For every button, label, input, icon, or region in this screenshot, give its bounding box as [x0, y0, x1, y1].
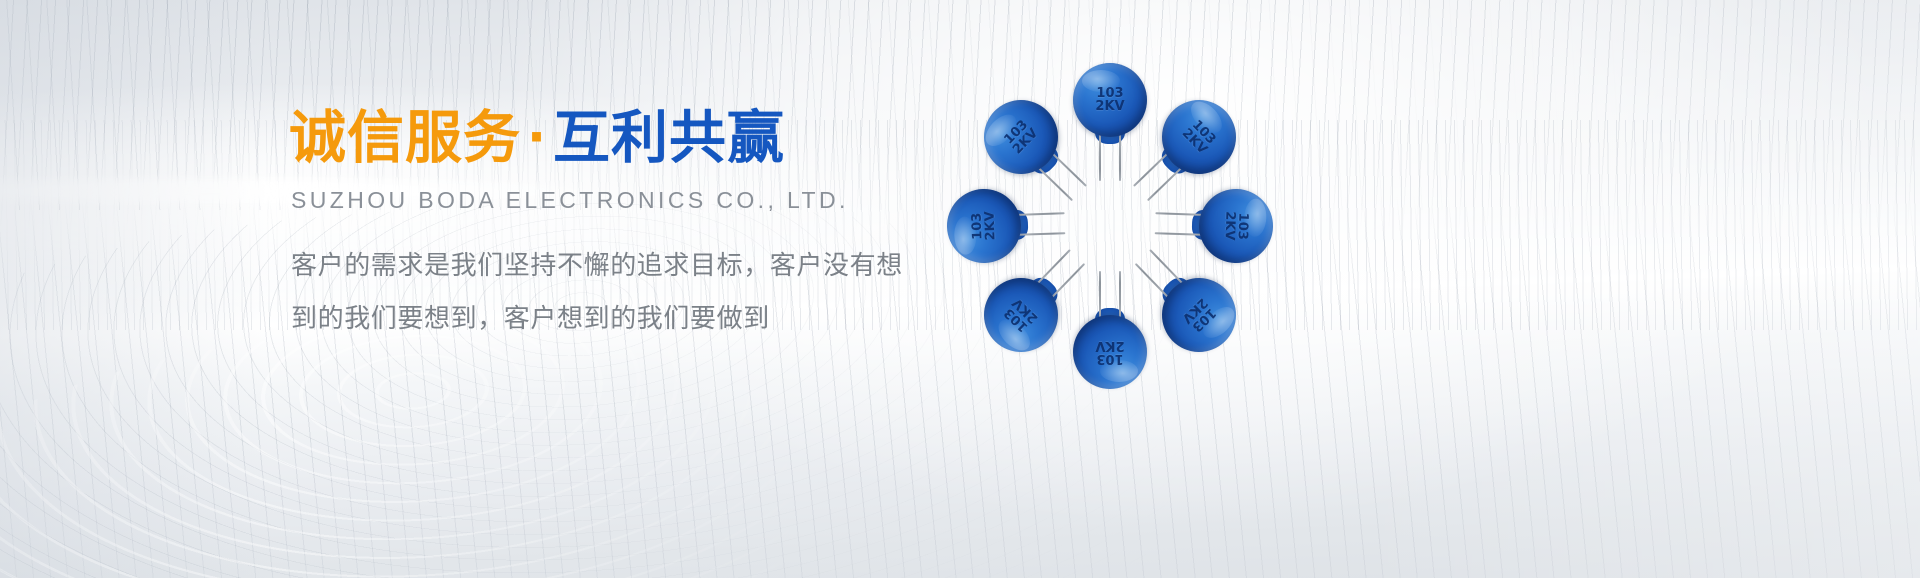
banner-copy-block: 诚信服务·互利共赢 SUZHOU BODA ELECTRONICS CO., L… [289, 108, 969, 353]
capacitor-lead-right [1155, 232, 1203, 236]
capacitor-lead-left [1037, 166, 1073, 201]
capacitor-lead-right [1099, 271, 1101, 319]
capacitor-marking-line-2: 2KV [983, 211, 997, 241]
capacitor-1: 1032KV [1073, 63, 1147, 137]
capacitor-part-marking: 1032KV [1147, 85, 1252, 190]
capacitor-part-marking: 1032KV [969, 85, 1074, 190]
promo-banner: 诚信服务·互利共赢 SUZHOU BODA ELECTRONICS CO., L… [0, 0, 1920, 578]
slogan-line-2: 到的我们要想到，客户想到的我们要做到 [291, 300, 969, 339]
capacitor-part-marking: 1032KV [969, 263, 1074, 368]
capacitor-part-marking: 1032KV [946, 188, 1023, 265]
capacitor-lead-left [1050, 263, 1085, 299]
capacitor-3: 1032KV [1198, 188, 1275, 265]
capacitor-marking-line-2: 2KV [1095, 100, 1124, 113]
headline-segment-blue: 互利共赢 [553, 105, 785, 171]
capacitor-lead-left [1149, 249, 1184, 285]
headline-segment-orange: 诚信服务 [289, 105, 521, 171]
capacitor-ring-graphic: 1032KV1032KV1032KV1032KV1032KV1032KV1032… [900, 30, 1340, 430]
capacitor-lead-right [1147, 166, 1183, 201]
capacitor-lead-left [1119, 271, 1121, 319]
capacitor-part-marking: 1032KV [1073, 63, 1147, 137]
capacitor-part-marking: 1032KV [1198, 188, 1275, 265]
company-name-english: SUZHOU BODA ELECTRONICS CO., LTD. [291, 187, 969, 214]
capacitor-lead-right [1051, 152, 1087, 187]
capacitor-7: 1032KV [946, 188, 1023, 265]
capacitor-marking-line-1: 103 [1236, 212, 1250, 240]
capacitor-part-marking: 1032KV [1147, 263, 1252, 368]
capacitor-lead-left [1155, 212, 1203, 216]
capacitor-part-marking: 1032KV [1073, 315, 1147, 389]
banner-headline: 诚信服务·互利共赢 [289, 108, 969, 170]
capacitor-lead-right [1036, 249, 1071, 285]
banner-slogan-paragraph: 客户的需求是我们坚持不懈的追求目标，客户没有想 到的我们要想到，客户想到的我们要… [291, 247, 969, 339]
headline-separator-dot: · [521, 108, 553, 166]
capacitor-5: 1032KV [1073, 315, 1147, 389]
capacitor-6: 1032KV [969, 263, 1074, 368]
capacitor-2: 1032KV [1147, 85, 1252, 190]
capacitor-lead-right [1135, 263, 1170, 299]
capacitor-marking-line-2: 2KV [1095, 339, 1124, 352]
capacitor-marking-line-1: 103 [1096, 87, 1123, 100]
slogan-line-1: 客户的需求是我们坚持不懈的追求目标，客户没有想 [291, 247, 969, 286]
capacitor-4: 1032KV [1147, 263, 1252, 368]
capacitor-marking-line-1: 103 [1096, 352, 1123, 365]
capacitor-marking-line-2: 2KV [1222, 211, 1236, 241]
capacitor-8: 1032KV [969, 85, 1074, 190]
